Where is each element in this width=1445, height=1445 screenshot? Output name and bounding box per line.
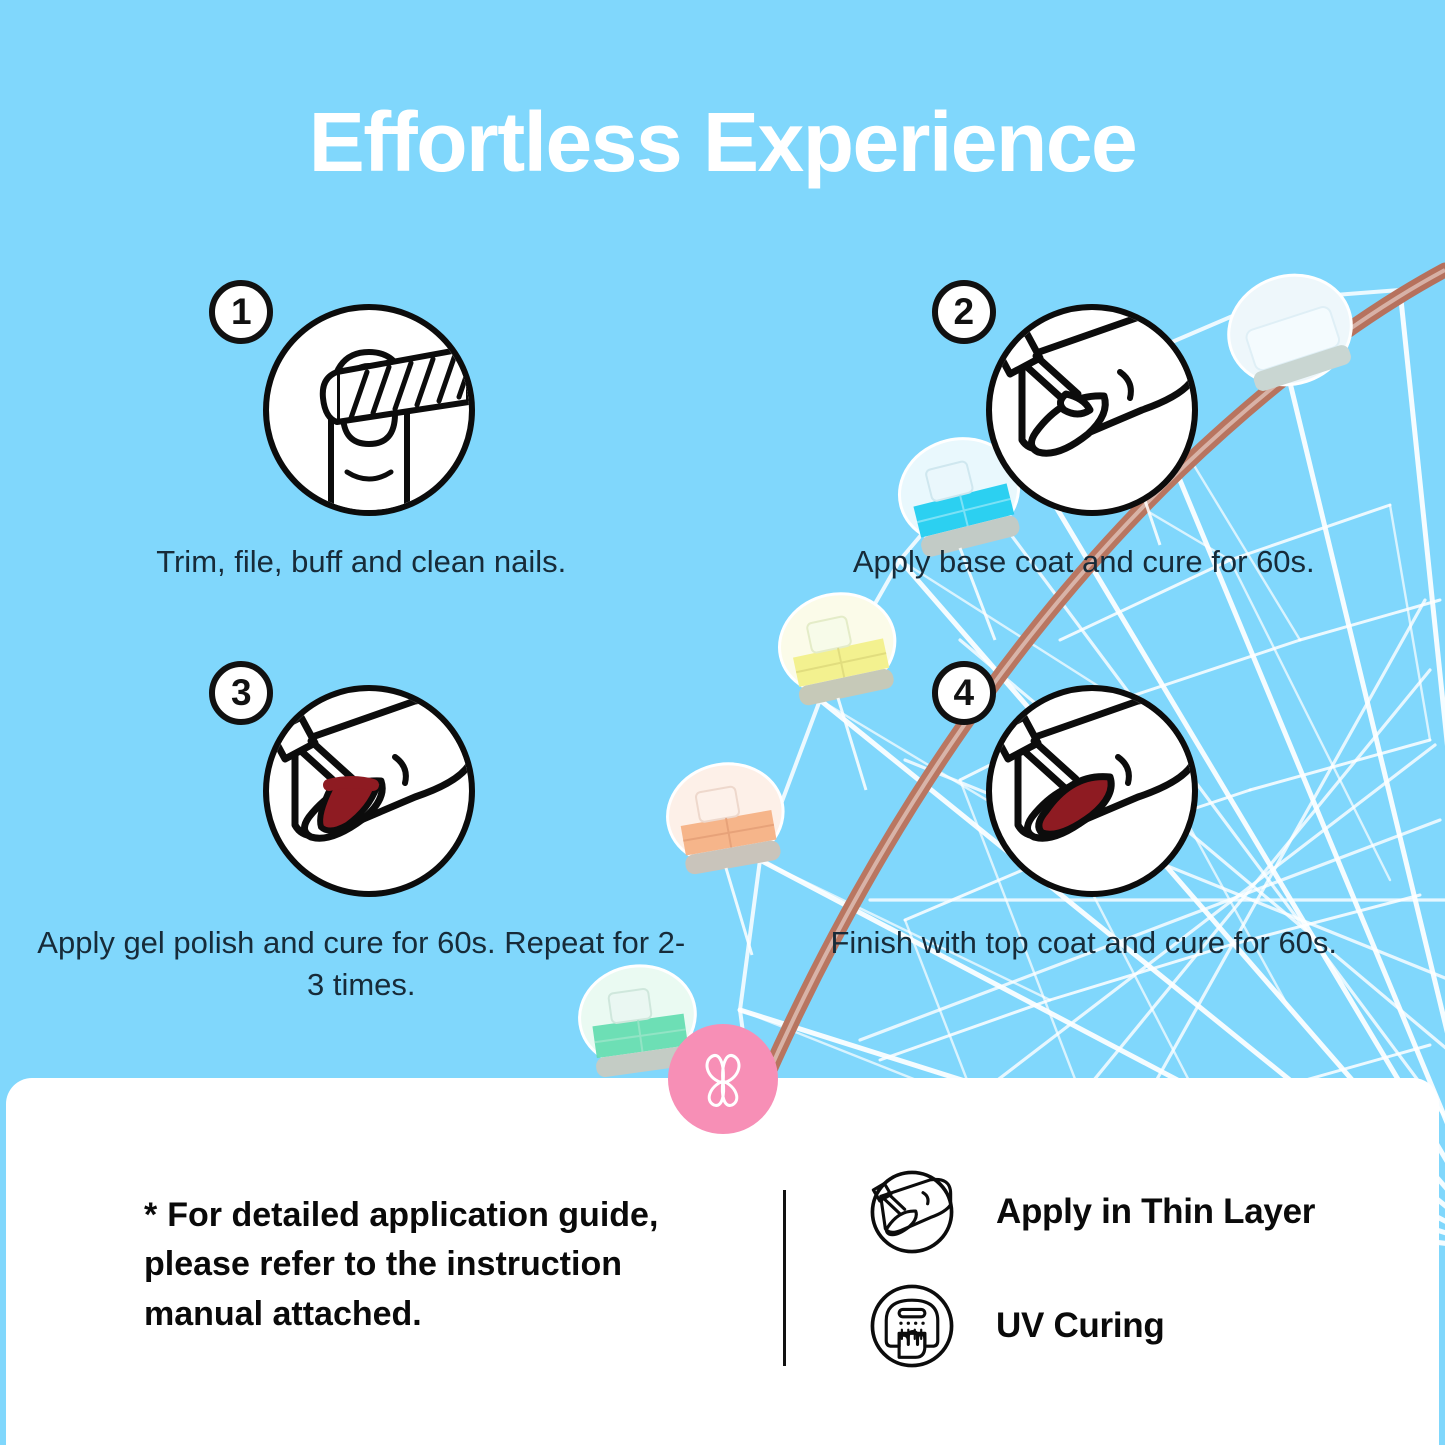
step-2-caption: Apply base coat and cure for 60s.: [723, 541, 1445, 583]
step-badge-4: 4: [932, 661, 996, 725]
step-item-3: 3: [0, 657, 723, 1006]
uv-curing-icon: [866, 1280, 958, 1372]
feature-label-thin-layer: Apply in Thin Layer: [996, 1192, 1315, 1232]
step-1-artwork: 1: [201, 276, 521, 521]
step-4-caption: Finish with top coat and cure for 60s.: [723, 922, 1445, 964]
butterfly-loops-logo: [687, 1043, 759, 1115]
feature-label-uv-curing: UV Curing: [996, 1306, 1164, 1346]
step-4-artwork: 4: [924, 657, 1244, 902]
step-item-2: 2: [723, 276, 1445, 583]
step-item-4: 4: [723, 657, 1445, 1006]
feature-item-uv-curing: UV Curing: [866, 1280, 1386, 1372]
promo-graphic-root: Effortless Experience 1: [0, 0, 1445, 1445]
nail-file-icon: [263, 304, 475, 516]
feature-list: Apply in Thin Layer: [866, 1166, 1386, 1394]
steps-section: 1: [0, 276, 1445, 1006]
step-item-1: 1: [0, 276, 723, 583]
step-3-caption: Apply gel polish and cure for 60s. Repea…: [0, 922, 723, 1006]
instruction-note: *For detailed application guide, please …: [144, 1191, 744, 1339]
note-text: For detailed application guide, please r…: [144, 1196, 658, 1333]
step-1-caption: Trim, file, buff and clean nails.: [0, 541, 723, 583]
brush-gel-polish-icon: [263, 685, 475, 897]
apply-thin-layer-icon: [866, 1166, 958, 1258]
steps-row-bottom: 3: [0, 657, 1445, 1006]
feature-item-thin-layer: Apply in Thin Layer: [866, 1166, 1386, 1258]
brand-logo-badge: [668, 1024, 778, 1134]
step-badge-2: 2: [932, 280, 996, 344]
brush-top-coat-icon: [986, 685, 1198, 897]
step-2-artwork: 2: [924, 276, 1244, 521]
step-badge-3: 3: [209, 661, 273, 725]
note-asterisk: *: [144, 1196, 157, 1234]
vertical-divider: [783, 1190, 786, 1366]
steps-row-top: 1: [0, 276, 1445, 583]
brush-base-coat-icon: [986, 304, 1198, 516]
step-badge-1: 1: [209, 280, 273, 344]
step-3-artwork: 3: [201, 657, 521, 902]
page-title: Effortless Experience: [0, 96, 1445, 188]
